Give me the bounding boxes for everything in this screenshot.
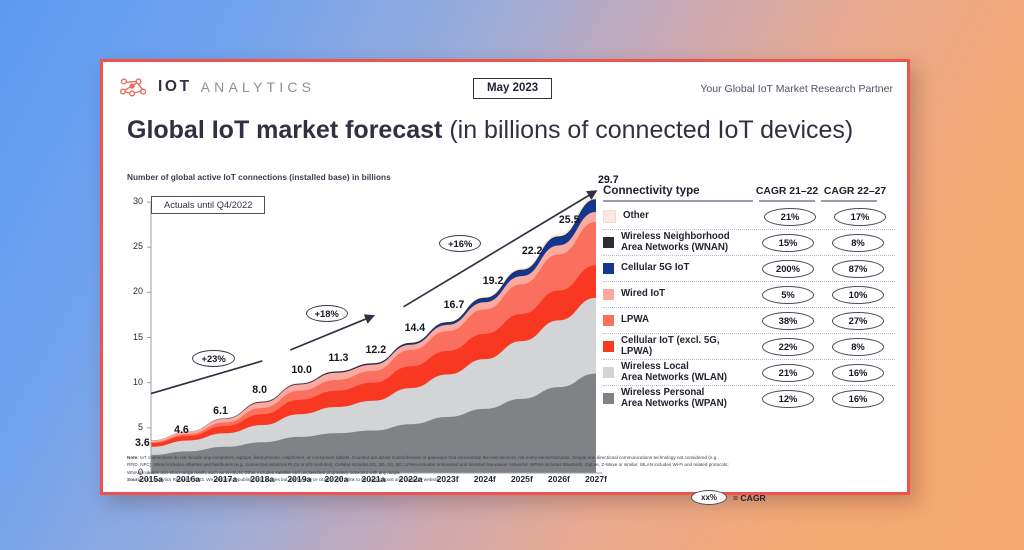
legend-cagr-22-27: 27% (832, 312, 884, 330)
footnote-line-3: WNAN includes non-short-range mesh, such… (127, 469, 902, 476)
legend-row: Cellular IoT (excl. 5G, LPWA)22%8% (603, 334, 895, 360)
legend-table: Connectivity type CAGR 21–22 CAGR 22–27 … (603, 184, 895, 411)
legend-row: Wireless NeighborhoodArea Networks (WNAN… (603, 230, 895, 256)
legend-cagr-22-27: 8% (832, 234, 884, 252)
legend-label: Wired IoT (621, 289, 753, 300)
legend-swatch (603, 315, 614, 326)
cagr-legend-note: xx% = CAGR (691, 490, 766, 505)
data-label: 11.3 (328, 352, 348, 364)
legend-row: LPWA38%27% (603, 308, 895, 334)
legend-cagr-21-22: 38% (762, 312, 814, 330)
legend-row: Wired IoT5%10% (603, 282, 895, 308)
data-label: 10.0 (291, 364, 312, 376)
legend-row: Cellular 5G IoT200%87% (603, 256, 895, 282)
legend-label: Cellular 5G IoT (621, 263, 753, 274)
footnote-text-1: IoT connections do not include any compu… (139, 455, 719, 460)
legend-swatch (603, 367, 614, 378)
cagr-annotation: +23% (192, 350, 234, 367)
data-label: 14.4 (405, 322, 426, 334)
legend-row: Wireless LocalArea Networks (WLAN)21%16% (603, 360, 895, 386)
legend-cagr-21-22: 15% (762, 234, 814, 252)
footnote-line-2: RFID, NFC). Wired includes ethernet and … (127, 461, 902, 468)
legend-label: Wireless PersonalArea Networks (WPAN) (621, 388, 753, 410)
data-label: 16.7 (444, 299, 465, 311)
legend-header-rule (603, 200, 895, 202)
legend-swatch (603, 237, 614, 248)
legend-swatch (603, 393, 614, 404)
data-label: 8.0 (252, 384, 267, 396)
y-axis-tick: 25 (127, 241, 143, 251)
legend-label: Wireless NeighborhoodArea Networks (WNAN… (621, 232, 753, 254)
legend-cagr-21-22: 21% (764, 208, 816, 226)
data-label: 12.2 (366, 344, 387, 356)
data-label: 3.6 (135, 437, 150, 449)
legend-header-row: Connectivity type CAGR 21–22 CAGR 22–27 (603, 184, 895, 200)
legend-cagr-21-22: 12% (762, 390, 814, 408)
legend-cagr-21-22: 200% (762, 260, 814, 278)
legend-label: Other (623, 211, 755, 222)
legend-swatch (603, 341, 614, 352)
legend-label: LPWA (621, 315, 753, 326)
y-axis-tick: 20 (127, 286, 143, 296)
cagr-note-pill: xx% (691, 490, 727, 505)
footnote-note-label: Note: (127, 455, 139, 460)
footnote: Note: IoT connections do not include any… (127, 454, 902, 484)
legend-col-type: Connectivity type (603, 184, 753, 197)
legend-col-cagr-22-27: CAGR 22–27 (821, 186, 889, 197)
legend-swatch (603, 289, 614, 300)
legend-cagr-22-27: 16% (832, 364, 884, 382)
footnote-source-label: Source: (127, 477, 144, 482)
actuals-note: Actuals until Q4/2022 (151, 196, 265, 214)
legend-cagr-21-22: 5% (762, 286, 814, 304)
legend-label: Cellular IoT (excl. 5G, LPWA) (621, 336, 753, 358)
data-label: 19.2 (483, 275, 504, 287)
legend-cagr-22-27: 87% (832, 260, 884, 278)
data-label: 4.6 (174, 424, 189, 436)
cagr-annotation: +16% (439, 235, 481, 252)
data-label: 25.5 (559, 214, 580, 226)
legend-cagr-22-27: 16% (832, 390, 884, 408)
legend-cagr-22-27: 10% (832, 286, 884, 304)
legend-label: Wireless LocalArea Networks (WLAN) (621, 362, 753, 384)
legend-swatch (603, 210, 616, 223)
footnote-text-4: IoT Analytics Research 2023. We welcome … (144, 477, 441, 482)
y-axis-tick: 5 (127, 422, 143, 432)
legend-swatch (603, 263, 614, 274)
legend-cagr-22-27: 17% (834, 208, 886, 226)
footnote-line-1: Note: IoT connections do not include any… (127, 454, 902, 461)
legend-row: Other21%17% (603, 204, 895, 230)
legend-row: Wireless PersonalArea Networks (WPAN)12%… (603, 386, 895, 411)
cagr-annotation: +18% (306, 305, 348, 322)
data-label: 22.2 (522, 245, 543, 257)
y-axis-tick: 10 (127, 377, 143, 387)
legend-col-cagr-21-22: CAGR 21–22 (753, 186, 821, 197)
y-axis-tick: 30 (127, 196, 143, 206)
slide-card: IOT ANALYTICS May 2023 Your Global IoT M… (100, 59, 910, 495)
y-axis-tick: 15 (127, 332, 143, 342)
screenshot-background: IOT ANALYTICS May 2023 Your Global IoT M… (0, 0, 1024, 550)
legend-cagr-21-22: 21% (762, 364, 814, 382)
legend-cagr-21-22: 22% (762, 338, 814, 356)
footnote-line-4: Source: IoT Analytics Research 2023. We … (127, 476, 902, 483)
cagr-note-text: = CAGR (733, 493, 766, 503)
legend-cagr-22-27: 8% (832, 338, 884, 356)
data-label: 6.1 (213, 405, 228, 417)
